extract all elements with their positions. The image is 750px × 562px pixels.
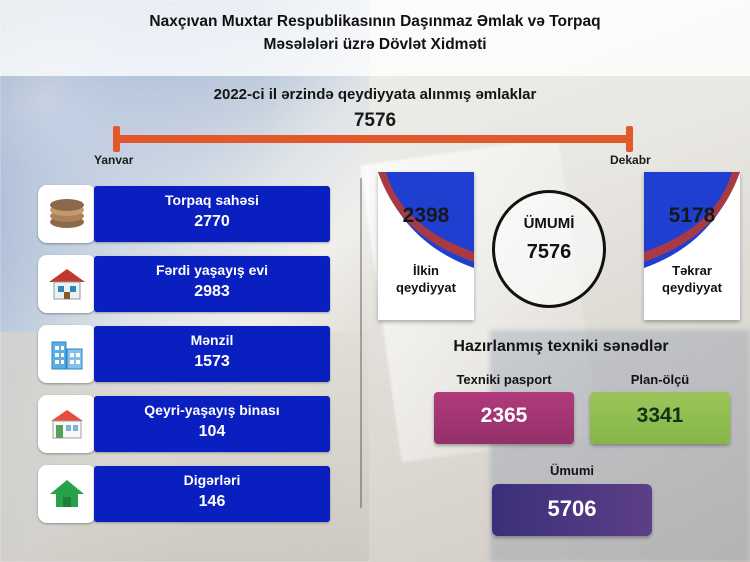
list-item-value: 2983	[94, 283, 330, 301]
list-item-label: Fərdi yaşayış evi	[94, 262, 330, 278]
repeat-registration-label-line2: qeydiyyat	[644, 279, 740, 296]
page-title-line1: Naxçıvan Muxtar Respublikasının Daşınmaz…	[75, 10, 675, 33]
list-item-bar: Digərləri 146	[94, 466, 330, 522]
total-registered-value: 7576	[75, 110, 675, 132]
registration-total-badge: ÜMUMİ 7576	[492, 190, 606, 308]
repeat-registration-label-line1: Təkrar	[644, 262, 740, 279]
first-registration-label-line2: qeydiyyat	[378, 279, 474, 296]
timeline-bar	[113, 135, 633, 143]
list-item[interactable]: Fərdi yaşayış evi 2983	[38, 256, 330, 312]
documents-section-title: Hazırlanmış texniki sənədlər	[380, 338, 742, 356]
list-item[interactable]: Mənzil 1573	[38, 326, 330, 382]
documents-total-value: 5706	[492, 496, 652, 522]
list-item-bar: Mənzil 1573	[94, 326, 330, 382]
list-item-label: Qeyri-yaşayış binası	[94, 402, 330, 418]
page-title-line2: Məsələləri üzrə Dövlət Xidməti	[75, 33, 675, 56]
first-registration-label-line1: İlkin	[378, 262, 474, 279]
category-list: Torpaq sahəsi 2770 Fərdi yaşayış evi 298…	[38, 186, 330, 536]
timeline-end-label: Dekabr	[610, 153, 651, 167]
documents-total-card[interactable]: 5706	[492, 484, 652, 536]
infographic-root: Naxçıvan Muxtar Respublikasının Daşınmaz…	[0, 0, 750, 562]
list-item-bar: Torpaq sahəsi 2770	[94, 186, 330, 242]
technical-passport-label: Texniki pasport	[434, 372, 574, 387]
ribbon-shape	[644, 172, 740, 320]
first-registration-label: İlkin qeydiyyat	[378, 262, 474, 296]
list-item-bar: Fərdi yaşayış evi 2983	[94, 256, 330, 312]
list-item-value: 146	[94, 493, 330, 511]
plan-measure-value: 3341	[590, 404, 730, 428]
chart-subtitle: 2022-ci il ərzində qeydiyyata alınmış əm…	[75, 86, 675, 103]
registration-total-label: ÜMUMİ	[495, 215, 603, 232]
layers-icon	[38, 185, 96, 243]
list-item-value: 1573	[94, 353, 330, 371]
home-icon	[38, 465, 96, 523]
house-icon	[38, 255, 96, 313]
list-item-label: Digərləri	[94, 472, 330, 488]
list-item[interactable]: Torpaq sahəsi 2770	[38, 186, 330, 242]
list-item-label: Mənzil	[94, 332, 330, 348]
repeat-registration-value: 5178	[644, 204, 740, 228]
documents-total-label: Ümumi	[492, 463, 652, 478]
building-icon	[38, 395, 96, 453]
list-item[interactable]: Digərləri 146	[38, 466, 330, 522]
header-band: Naxçıvan Muxtar Respublikasının Daşınmaz…	[0, 0, 750, 76]
list-item-value: 104	[94, 423, 330, 441]
repeat-registration-label: Təkrar qeydiyyat	[644, 262, 740, 296]
first-registration-card[interactable]: 2398 İlkin qeydiyyat	[378, 172, 474, 320]
technical-passport-value: 2365	[434, 404, 574, 428]
list-item[interactable]: Qeyri-yaşayış binası 104	[38, 396, 330, 452]
technical-passport-card[interactable]: 2365	[434, 392, 574, 444]
plan-measure-card[interactable]: 3341	[590, 392, 730, 444]
repeat-registration-card[interactable]: 5178 Təkrar qeydiyyat	[644, 172, 740, 320]
list-item-label: Torpaq sahəsi	[94, 192, 330, 208]
first-registration-value: 2398	[378, 204, 474, 228]
list-item-bar: Qeyri-yaşayış binası 104	[94, 396, 330, 452]
timeline-start-label: Yanvar	[94, 153, 133, 167]
list-item-value: 2770	[94, 213, 330, 231]
registration-total-value: 7576	[495, 241, 603, 264]
ribbon-shape	[378, 172, 474, 320]
plan-measure-label: Plan-ölçü	[590, 372, 730, 387]
apartment-icon	[38, 325, 96, 383]
page-title: Naxçıvan Muxtar Respublikasının Daşınmaz…	[75, 10, 675, 56]
section-divider	[360, 178, 362, 508]
